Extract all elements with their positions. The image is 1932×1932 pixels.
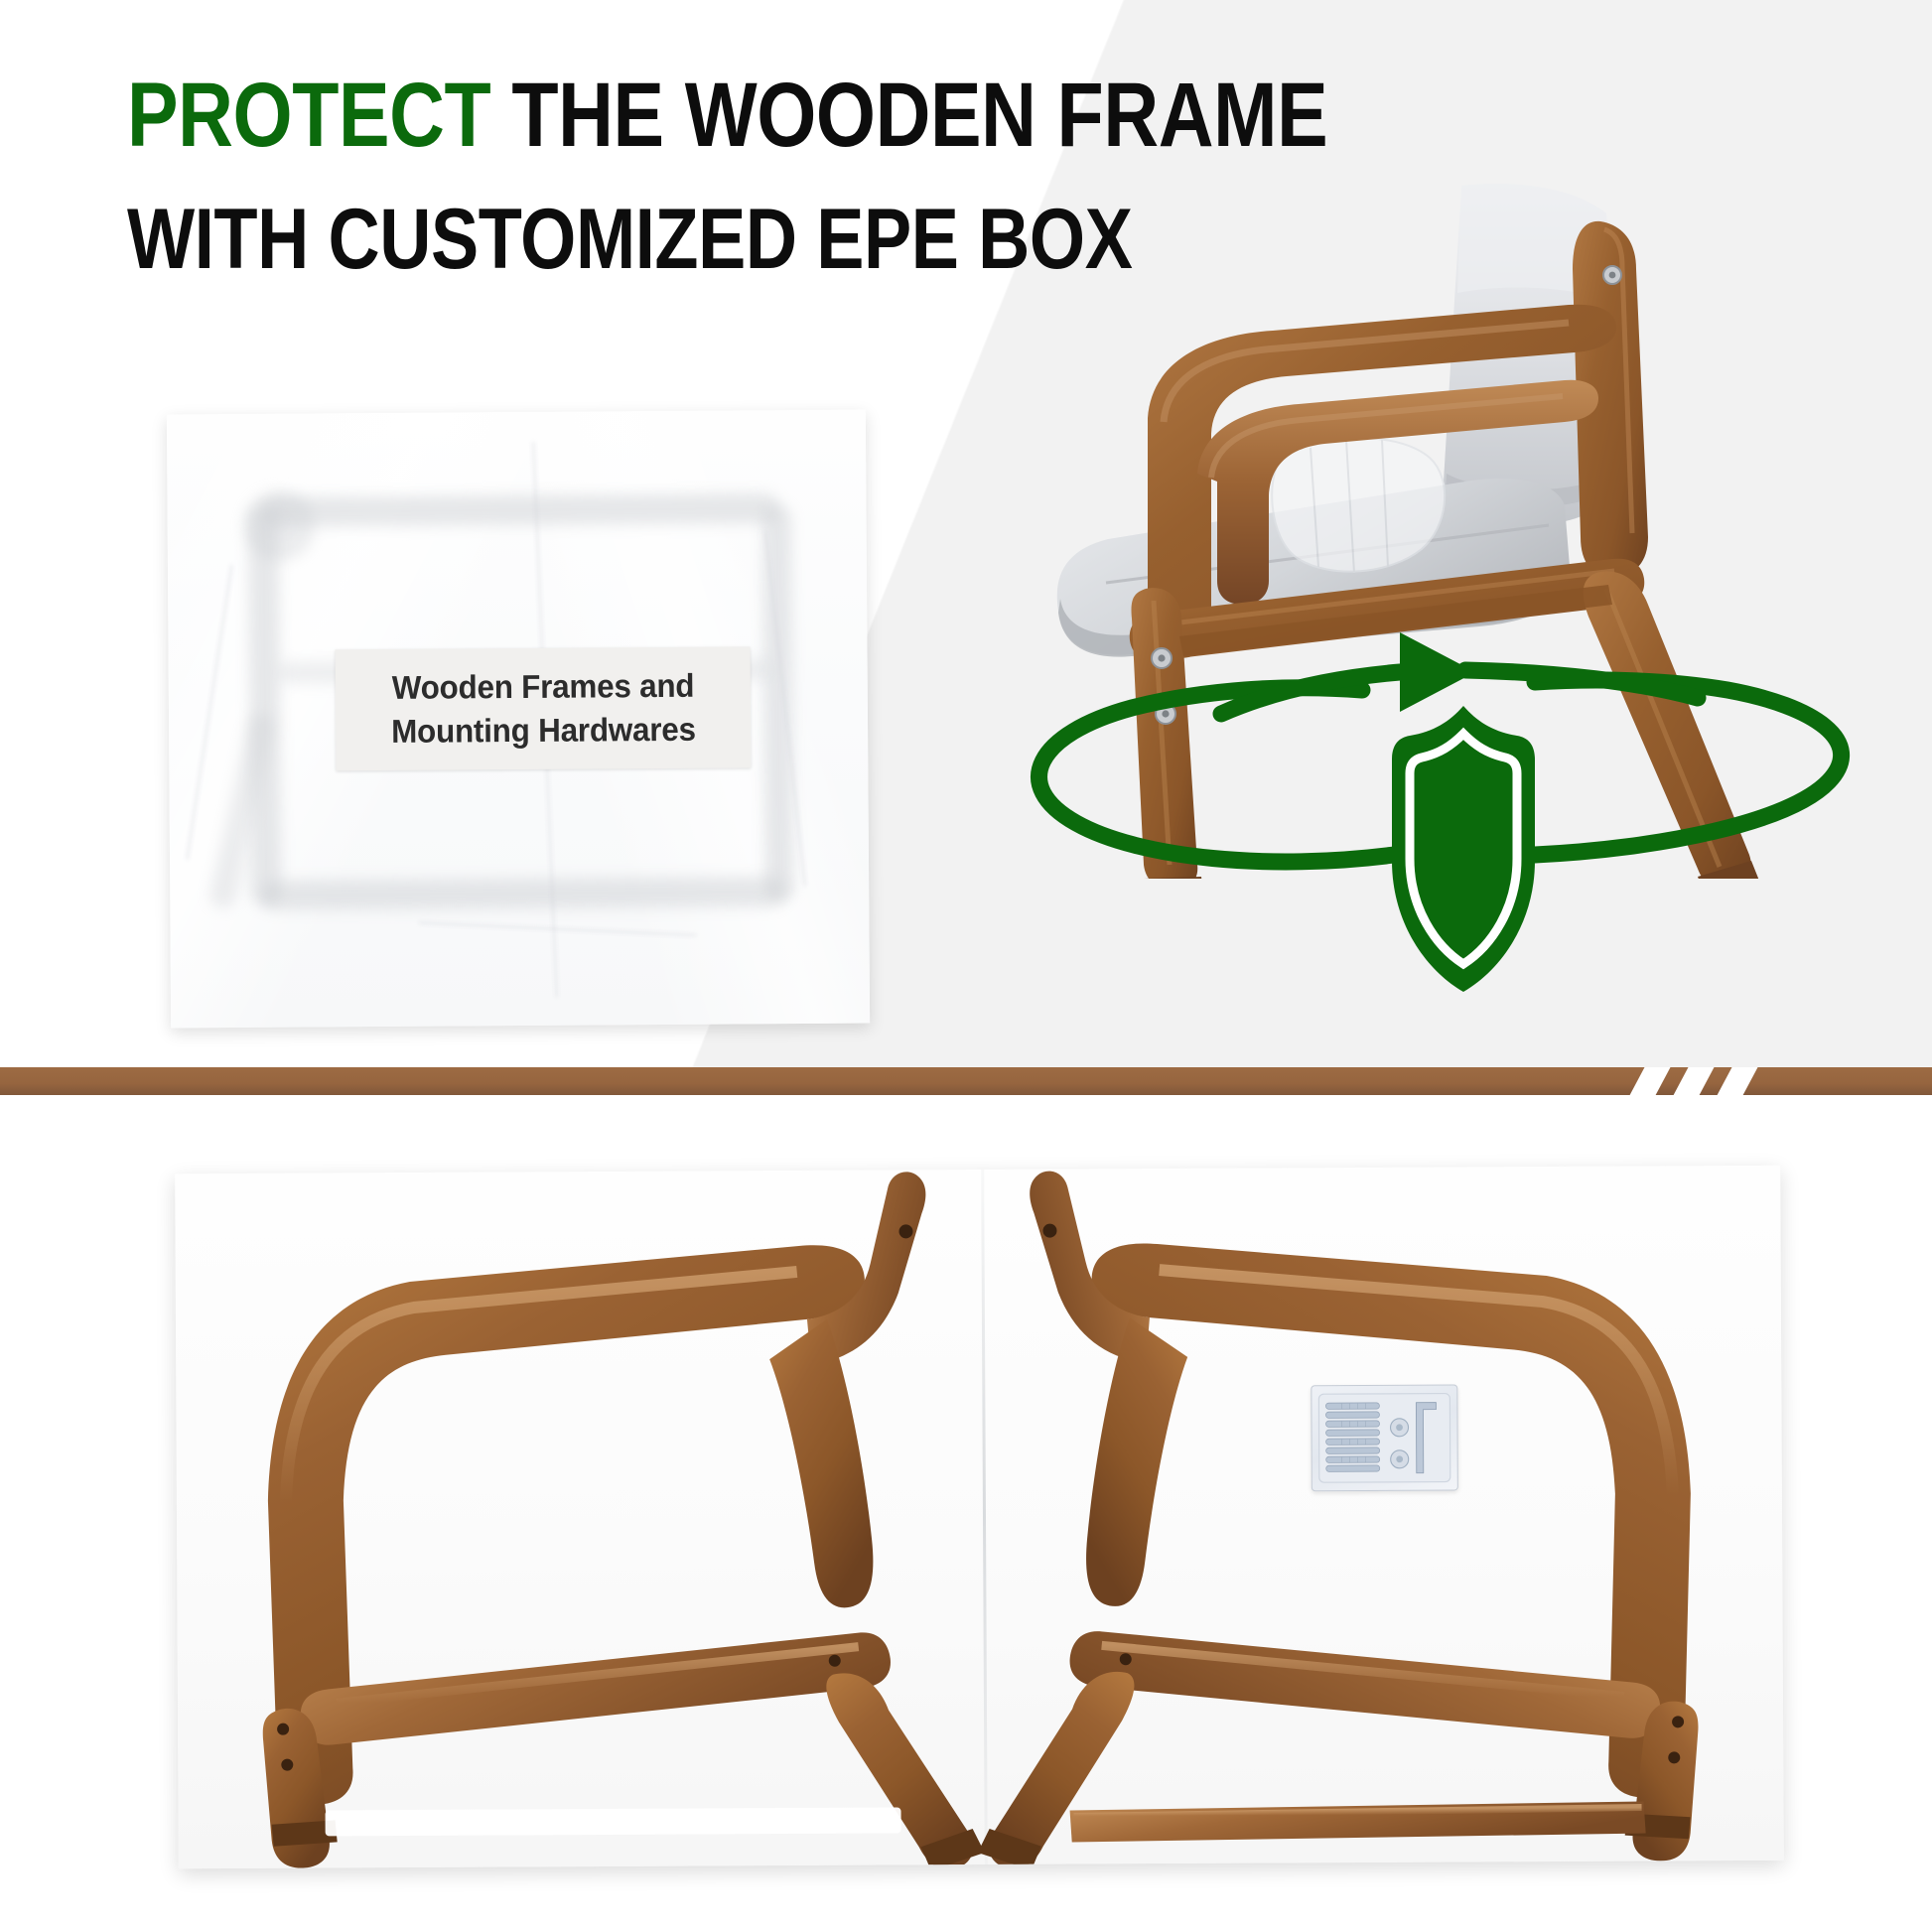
headline-line-2: WITH CUSTOMIZED EPE BOX	[127, 197, 1378, 282]
frame-parts-illustration	[175, 1166, 1784, 1868]
hardware-contents	[1311, 1385, 1457, 1490]
epe-package-photo: Wooden Frames and Mounting Hardwares	[167, 410, 870, 1029]
right-side-frame	[974, 1168, 1699, 1868]
chair-photo	[1013, 184, 1906, 1047]
headline-line-1-text: THE WOODEN FRAME	[511, 65, 1327, 166]
rotation-arrowhead-icon	[1400, 632, 1475, 712]
headline-line-1: PROTECT THE WOODEN FRAME	[127, 69, 1378, 161]
headline-block: PROTECT THE WOODEN FRAME WITH CUSTOMIZED…	[127, 69, 1616, 282]
divider-slash	[1666, 1067, 1720, 1095]
package-label-sticker: Wooden Frames and Mounting Hardwares	[336, 646, 752, 770]
headline-line-1-rest	[490, 65, 511, 166]
top-section: PROTECT THE WOODEN FRAME WITH CUSTOMIZED…	[0, 0, 1932, 1067]
support-rail	[1070, 1801, 1646, 1842]
left-side-frame	[260, 1172, 985, 1868]
packed-parts-photo	[175, 1166, 1784, 1868]
ghost-frame-left-leg	[248, 505, 281, 906]
headline-highlight-word: PROTECT	[127, 65, 490, 166]
bottom-section	[0, 1095, 1932, 1932]
protection-badge	[973, 611, 1906, 1028]
package-label-line-1: Wooden Frames and	[391, 667, 694, 707]
ghost-frame-bottom-rail	[261, 877, 785, 910]
divider-slash	[1622, 1067, 1676, 1095]
product-infographic: PROTECT THE WOODEN FRAME WITH CUSTOMIZED…	[0, 0, 1932, 1932]
package-label-line-2: Mounting Hardwares	[391, 711, 696, 751]
ghost-frame-top-rail	[262, 493, 778, 527]
shield-icon	[1392, 706, 1535, 992]
divider-slash	[1710, 1067, 1763, 1095]
hardware-packet	[1311, 1384, 1458, 1491]
section-divider-bar	[0, 1067, 1932, 1095]
